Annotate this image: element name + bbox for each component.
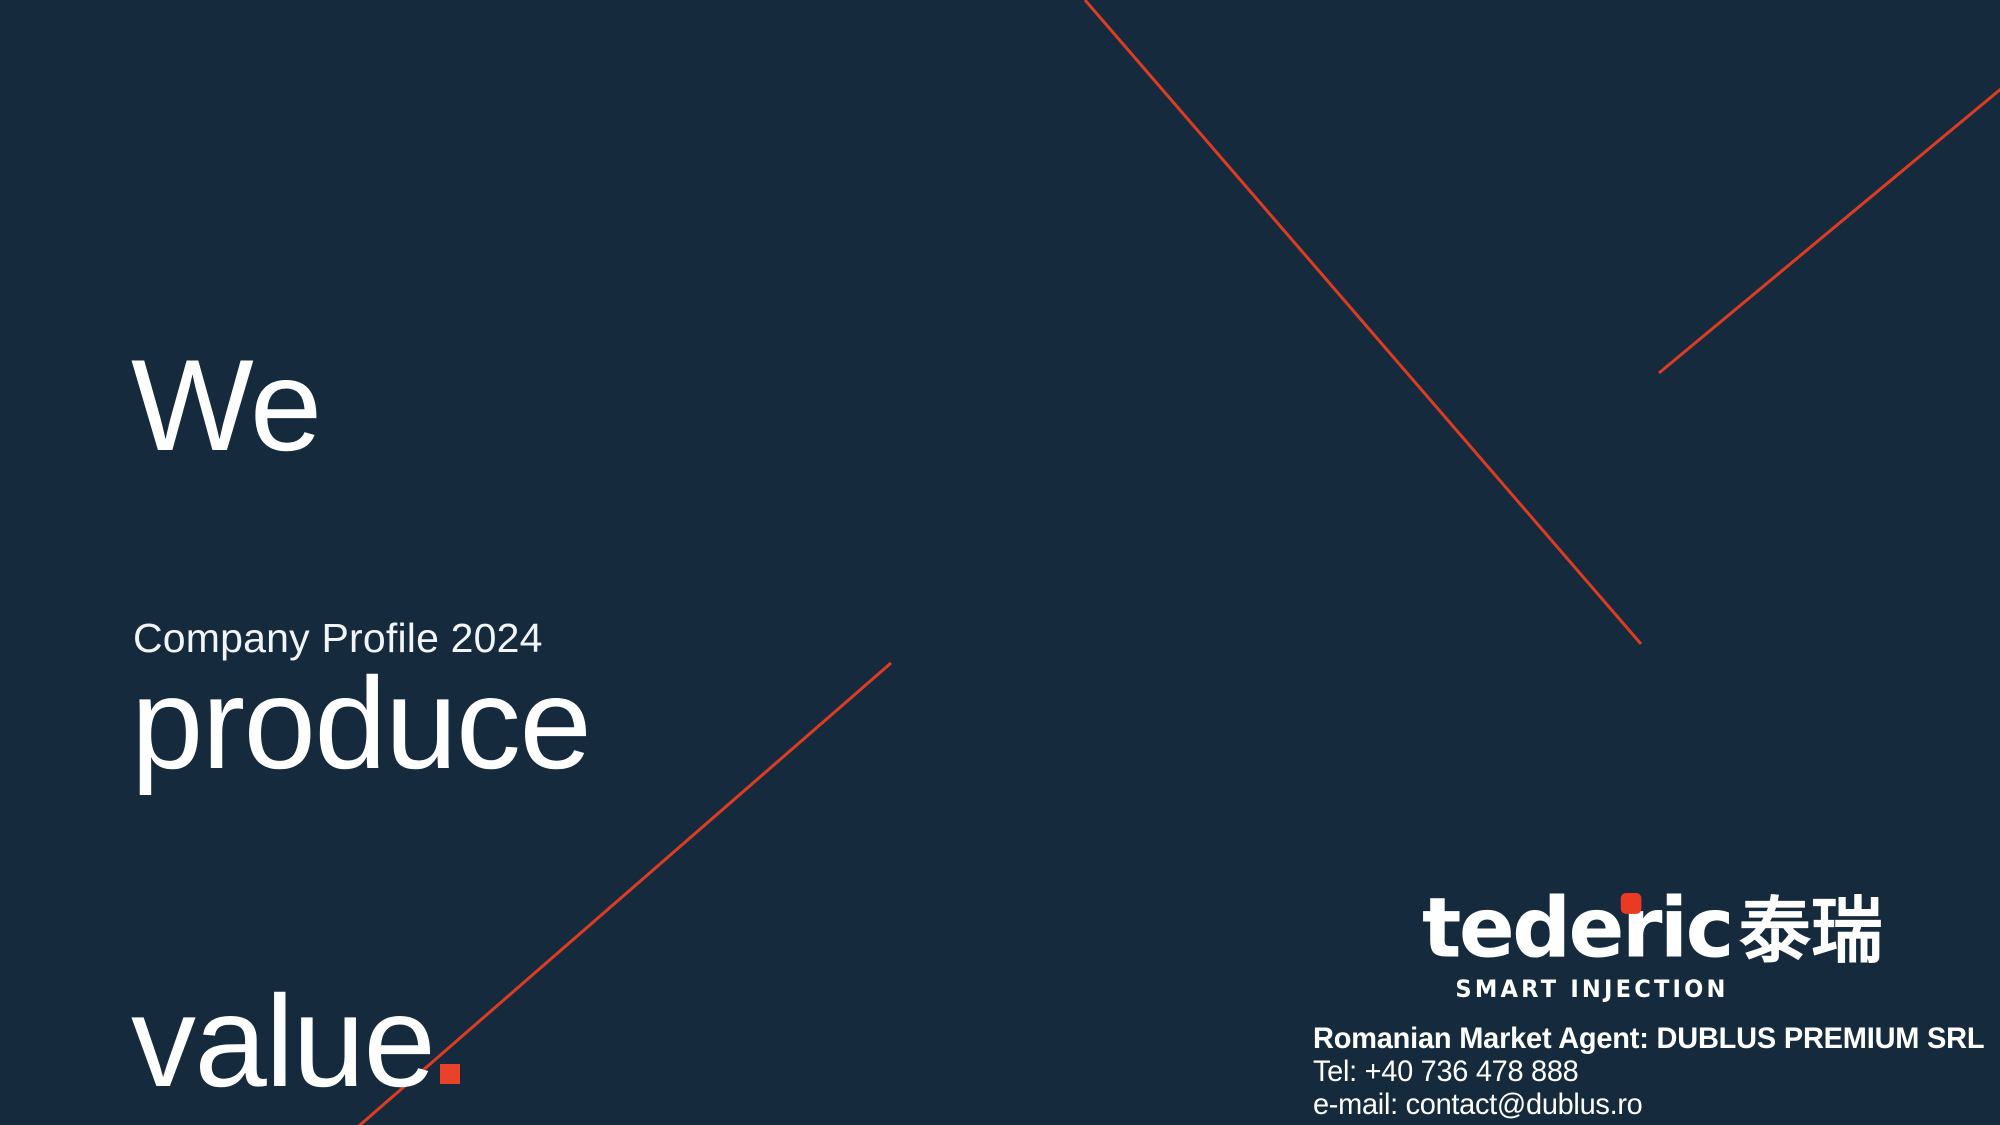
logo-wordmark-text: tederic	[1422, 880, 1732, 977]
subtitle: Company Profile 2024	[133, 613, 543, 663]
logo-red-dot-icon	[1621, 893, 1642, 914]
contact-agent-line: Romanian Market Agent: DUBLUS PREMIUM SR…	[1313, 1022, 1950, 1055]
contact-info: Romanian Market Agent: DUBLUS PREMIUM SR…	[1313, 1022, 1973, 1121]
logo-mark-row: tederic 泰瑞	[1422, 886, 1892, 970]
decorative-line-1	[1085, 0, 1641, 644]
headline-line-2: produce	[131, 670, 1031, 776]
accent-period-square	[440, 1064, 460, 1084]
logo-tagline: SMART INJECTION	[1432, 976, 1752, 1002]
decorative-line-2	[1659, 83, 2000, 373]
headline-line-3: value	[131, 988, 1031, 1094]
brand-logo: tederic 泰瑞 SMART INJECTION	[1422, 886, 1892, 1002]
headline-line-3-text: value	[131, 968, 434, 1114]
slide-canvas: We produce value Company Profile 2024 te…	[0, 0, 2000, 1125]
contact-phone-line: Tel: +40 736 478 888	[1313, 1055, 1950, 1088]
contact-email-line: e-mail: contact@dublus.ro	[1313, 1088, 1950, 1121]
headline-line-1: We	[131, 352, 1031, 458]
logo-chinese-name: 泰瑞	[1739, 894, 1883, 968]
logo-wordmark: tederic	[1422, 887, 1732, 970]
